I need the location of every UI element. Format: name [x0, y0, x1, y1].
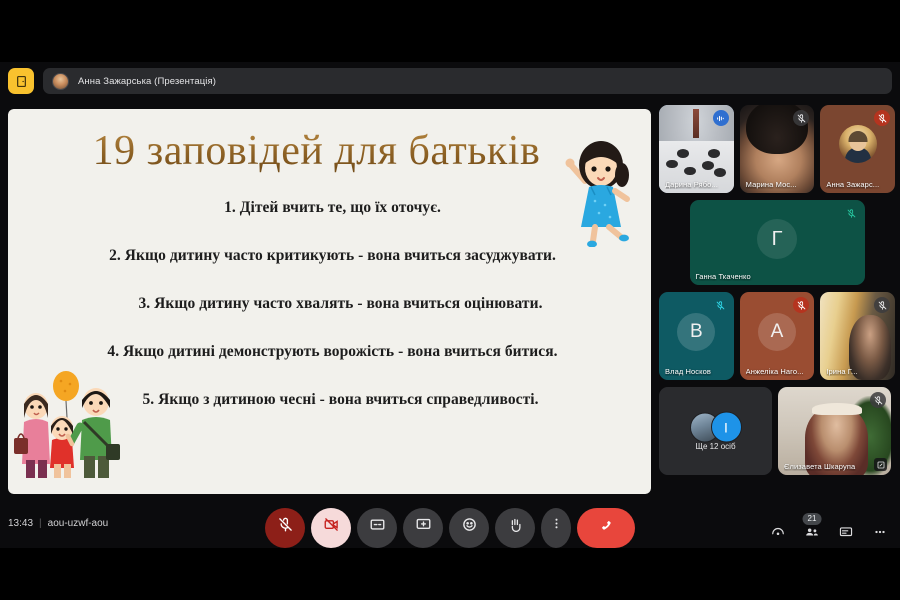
participant-name: Марина Мос...: [746, 180, 811, 189]
letterbox-bottom: [0, 548, 900, 600]
participant-name: Єлизавета Шкарупа: [784, 462, 887, 471]
presentation-stage[interactable]: 19 заповідей для батьків: [8, 109, 651, 494]
overflow-label: Ще 12 осіб: [659, 442, 772, 451]
meeting-screen: Анна Зажарська (Презентація) 19 заповіде…: [0, 0, 900, 600]
participant-tile-yelyzaveta[interactable]: Єлизавета Шкарупа: [778, 387, 891, 475]
slide-line-1: 1. Дітей вчить те, що їх оточує.: [38, 199, 627, 217]
participant-tile-vlad[interactable]: В Влад Носков: [659, 292, 734, 380]
presentation-board-icon[interactable]: [8, 68, 34, 94]
captions-button[interactable]: [357, 508, 397, 548]
participant-row: Г Ганна Ткаченко: [659, 200, 895, 285]
more-options-button[interactable]: [541, 508, 571, 548]
participant-name: Дарина Рябо...: [665, 180, 730, 189]
participant-name: Ірина Г...: [826, 367, 891, 376]
microphone-muted-icon[interactable]: [874, 110, 890, 126]
participant-tile-iryna[interactable]: Ірина Г...: [820, 292, 895, 380]
avatar-initial: А: [758, 313, 796, 351]
leave-call-button[interactable]: [577, 508, 635, 548]
control-buttons: [265, 508, 635, 548]
participant-row: В Влад Носков А: [659, 292, 895, 380]
avatar-initial: В: [677, 313, 715, 351]
chat-button[interactable]: [836, 522, 856, 542]
avatar-initial: Г: [757, 219, 797, 259]
meeting-info: 13:43 | aou-uzwf-aou: [8, 518, 108, 529]
letterbox-top: [0, 0, 900, 62]
avatar-initial: І: [711, 412, 742, 443]
slide: 19 заповідей для батьків: [8, 109, 651, 494]
participant-tile-overflow[interactable]: І Ще 12 осіб: [659, 387, 772, 475]
participant-name: Влад Носков: [665, 367, 730, 376]
present-button[interactable]: [403, 508, 443, 548]
presenter-pill[interactable]: Анна Зажарська (Презентація): [43, 68, 892, 94]
participant-name: Анна Зажарс...: [826, 180, 891, 189]
participant-name: Ганна Ткаченко: [696, 272, 861, 281]
pin-icon[interactable]: [874, 458, 887, 471]
emoji-button[interactable]: [449, 508, 489, 548]
avatar: [52, 73, 69, 90]
participant-tile-anna[interactable]: Анна Зажарс...: [820, 105, 895, 193]
participant-name: Анжеліка Наго...: [746, 367, 811, 376]
apps-grid-icon[interactable]: [870, 522, 890, 542]
microphone-muted-icon[interactable]: [713, 297, 729, 313]
participant-tile-daryna[interactable]: Дарина Рябо...: [659, 105, 734, 193]
presentation-header: Анна Зажарська (Презентація): [0, 65, 900, 97]
participant-tile-hanna[interactable]: Г Ганна Ткаченко: [690, 200, 865, 285]
people-button[interactable]: 21: [802, 522, 822, 542]
slide-line-2: 2. Якщо дитину часто критикують - вона в…: [38, 247, 627, 265]
slide-line-3: 3. Якщо дитину часто хвалять - вона вчит…: [54, 295, 627, 313]
presenter-name: Анна Зажарська (Презентація): [78, 76, 216, 87]
avatar-group: І: [690, 412, 742, 443]
participant-rail: Дарина Рябо... Марина Мос...: [659, 105, 895, 505]
slide-line-4: 4. Якщо дитині демонструють ворожість - …: [38, 343, 627, 361]
mic-button[interactable]: [265, 508, 305, 548]
avatar: [839, 125, 877, 163]
meeting-time: 13:43: [8, 518, 33, 529]
microphone-active-icon[interactable]: [713, 110, 729, 126]
microphone-muted-icon[interactable]: [844, 205, 860, 221]
microphone-muted-icon[interactable]: [874, 297, 890, 313]
participant-count-badge: 21: [803, 513, 822, 525]
family-illustration: [10, 360, 128, 480]
microphone-muted-icon[interactable]: [870, 392, 886, 408]
participant-tile-anzhelika[interactable]: А Анжеліка Наго...: [740, 292, 815, 380]
camera-button[interactable]: [311, 508, 351, 548]
right-control-icons: 21: [768, 522, 890, 542]
app-window: Анна Зажарська (Презентація) 19 заповіде…: [0, 62, 900, 548]
divider: |: [39, 518, 42, 529]
meeting-code: aou-uzwf-aou: [48, 518, 109, 529]
participant-row: І Ще 12 осіб: [659, 387, 895, 475]
raise-hand-button[interactable]: [495, 508, 535, 548]
participant-tile-maryna[interactable]: Марина Мос...: [740, 105, 815, 193]
slide-line-5: 5. Якщо з дитиною чесні - вона вчиться с…: [54, 391, 627, 409]
page-title: 19 заповідей для батьків: [8, 127, 651, 175]
girl-illustration: [565, 135, 637, 247]
meeting-details-button[interactable]: [768, 522, 788, 542]
participant-row: Дарина Рябо... Марина Мос...: [659, 105, 895, 193]
control-bar: 13:43 | aou-uzwf-aou: [0, 494, 900, 548]
